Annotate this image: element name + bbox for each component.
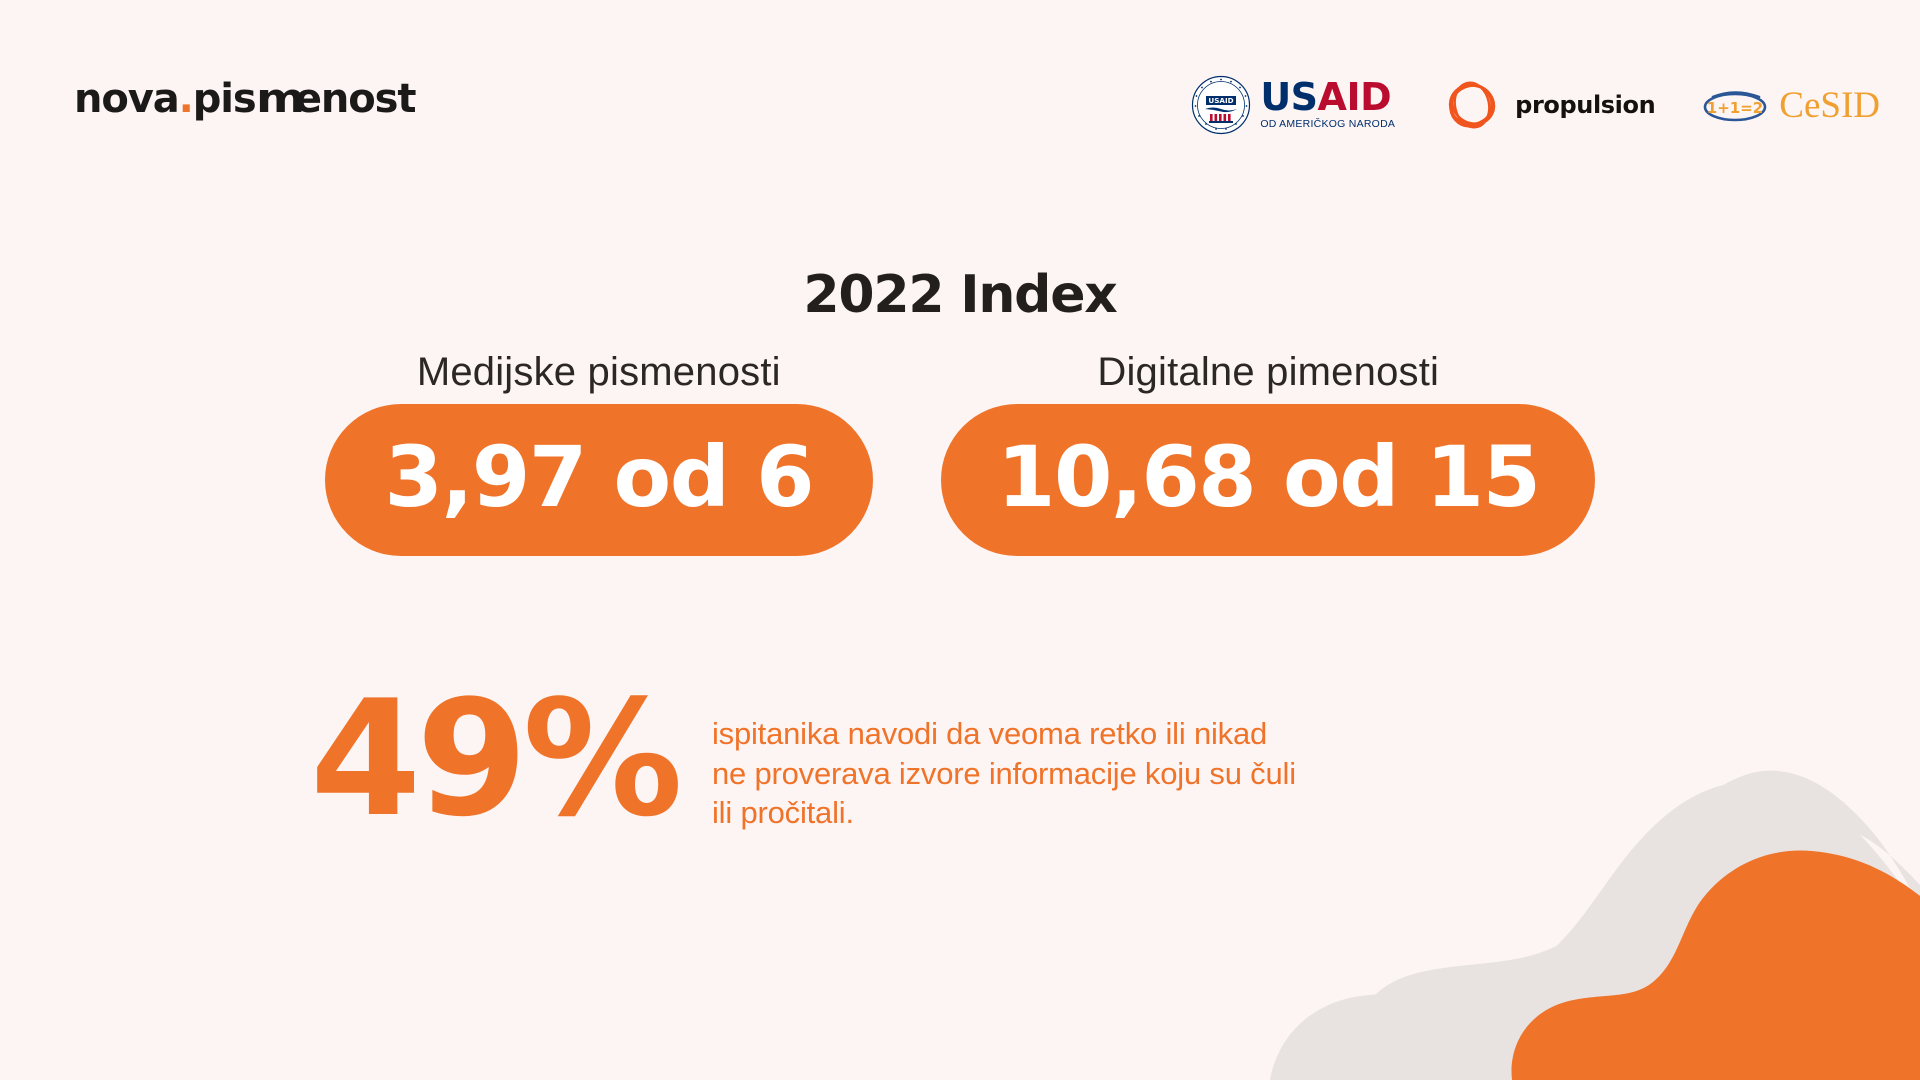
gray-blob	[1361, 771, 1920, 1080]
gray-blob-main	[1270, 782, 1920, 1080]
metric-value-digital: 10,68 od 15	[941, 404, 1595, 556]
usaid-word-aid: AID	[1318, 75, 1392, 119]
stat-description-line1: ispitanika navodi da veoma retko ili nik…	[712, 714, 1296, 754]
propulsion-scribble-icon	[1441, 74, 1503, 136]
metric-media-literacy: Medijske pismenosti 3,97 od 6	[325, 350, 874, 556]
stat-description-line3: ili pročitali.	[712, 793, 1296, 833]
metric-label-media: Medijske pismenosti	[417, 350, 781, 395]
infographic-canvas: nova.pismenost USAID	[0, 0, 1920, 1080]
metric-value-media: 3,97 od 6	[325, 404, 874, 556]
partner-logos: USAID USAID OD AMERIČKOG NARODA	[1191, 62, 1880, 148]
cesid-badge-icon: 1+1=2	[1701, 86, 1769, 124]
stat-description-line2: ne proverava izvore informacije koju su …	[712, 754, 1296, 794]
brand-logo-part2m: m	[256, 76, 302, 122]
svg-text:USAID: USAID	[1209, 96, 1234, 105]
propulsion-word: propulsion	[1515, 91, 1655, 119]
partner-logo-cesid: 1+1=2 CeSID	[1701, 84, 1880, 127]
brand-logo: nova.pismenost	[74, 76, 415, 122]
orange-blob-main	[1511, 850, 1920, 1080]
usaid-seal-icon: USAID	[1191, 75, 1251, 135]
brand-logo-part2a: pis	[193, 76, 256, 122]
usaid-tagline: OD AMERIČKOG NARODA	[1260, 118, 1395, 130]
metric-label-digital: Digitalne pimenosti	[1097, 350, 1439, 395]
metric-digital-literacy: Digitalne pimenosti 10,68 od 15	[941, 350, 1595, 556]
orange-blob	[1515, 886, 1920, 1080]
stat-description: ispitanika navodi da veoma retko ili nik…	[712, 714, 1296, 833]
brand-logo-dot: .	[179, 76, 193, 122]
stat-block: 49% ispitanika navodi da veoma retko ili…	[310, 690, 1296, 833]
metric-row: Medijske pismenosti 3,97 od 6 Digitalne …	[0, 350, 1920, 556]
svg-text:1+1=2: 1+1=2	[1707, 99, 1763, 117]
brand-logo-part2b: enost	[295, 76, 416, 122]
partner-logo-propulsion: propulsion	[1441, 74, 1655, 136]
usaid-wordmark: USAID OD AMERIČKOG NARODA	[1260, 80, 1395, 131]
usaid-word: USAID	[1260, 80, 1391, 116]
cesid-word: CeSID	[1779, 84, 1880, 127]
stat-percentage: 49%	[310, 690, 678, 828]
brand-logo-part1: nova	[74, 76, 179, 122]
usaid-word-us: US	[1260, 75, 1317, 119]
partner-logo-usaid: USAID USAID OD AMERIČKOG NARODA	[1191, 75, 1395, 135]
page-title: 2022 Index	[0, 265, 1920, 325]
